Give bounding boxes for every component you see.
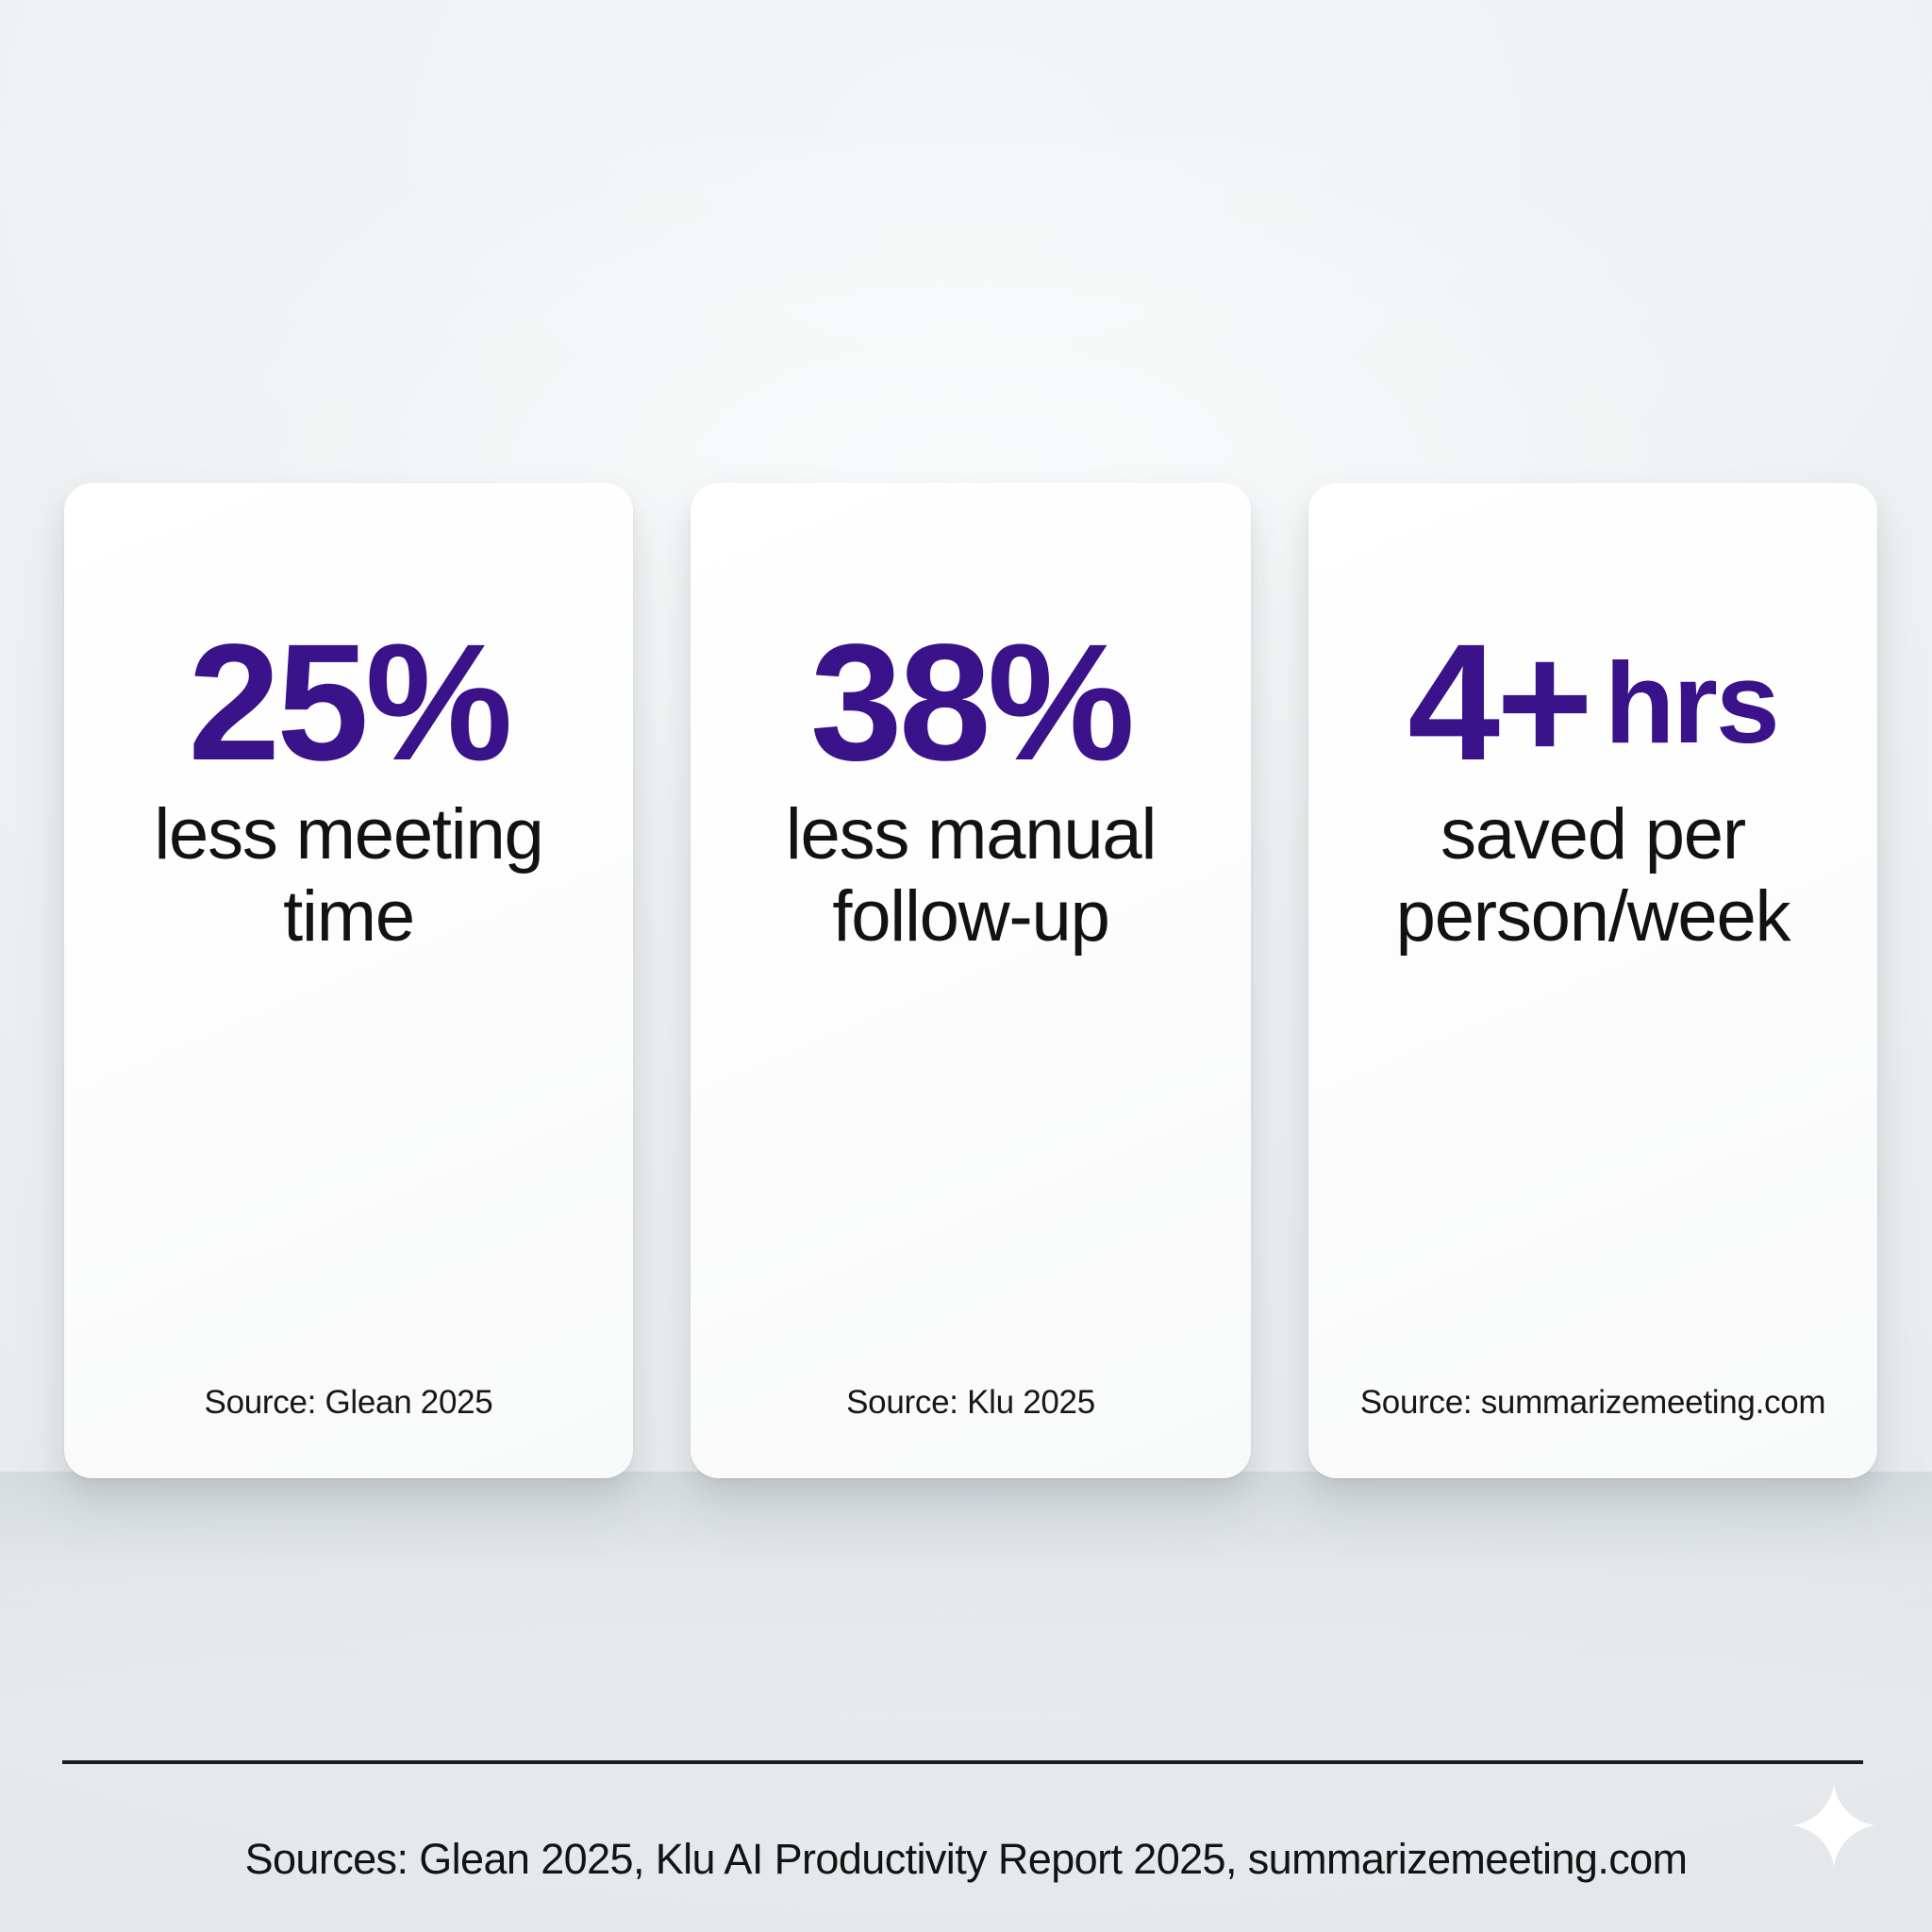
- stat-card-hours-saved[interactable]: 4+hrs saved per person/week Source: summ…: [1308, 483, 1877, 1478]
- stat-source: Source: Klu 2025: [706, 1384, 1236, 1422]
- stat-headline: 4+hrs: [1308, 604, 1877, 802]
- stat-value: 4+: [1407, 620, 1590, 786]
- stat-source: Source: summarizemeeting.com: [1324, 1384, 1862, 1422]
- stat-card-row: 25% less meeting time Source: Glean 2025…: [64, 483, 1877, 1478]
- stat-poster: 25% less meeting time Source: Glean 2025…: [0, 0, 1932, 1932]
- background-floor-shadow: [0, 1472, 1932, 1717]
- stat-unit: hrs: [1605, 645, 1778, 760]
- footer-divider: [62, 1760, 1863, 1764]
- stat-source: Source: Glean 2025: [79, 1384, 618, 1422]
- stat-headline: 38%: [691, 604, 1251, 802]
- stat-card-less-meeting-time[interactable]: 25% less meeting time Source: Glean 2025: [64, 483, 633, 1478]
- stat-label: less meeting time: [89, 794, 608, 958]
- stat-label: saved per person/week: [1333, 794, 1853, 958]
- stat-value: 25%: [188, 620, 508, 786]
- stat-card-less-manual-followup[interactable]: 38% less manual follow-up Source: Klu 20…: [691, 483, 1251, 1478]
- stat-headline: 25%: [64, 604, 633, 802]
- footer-sources: Sources: Glean 2025, Klu AI Productivity…: [0, 1835, 1932, 1884]
- stat-value: 38%: [810, 620, 1131, 786]
- stat-label: less manual follow-up: [715, 794, 1226, 958]
